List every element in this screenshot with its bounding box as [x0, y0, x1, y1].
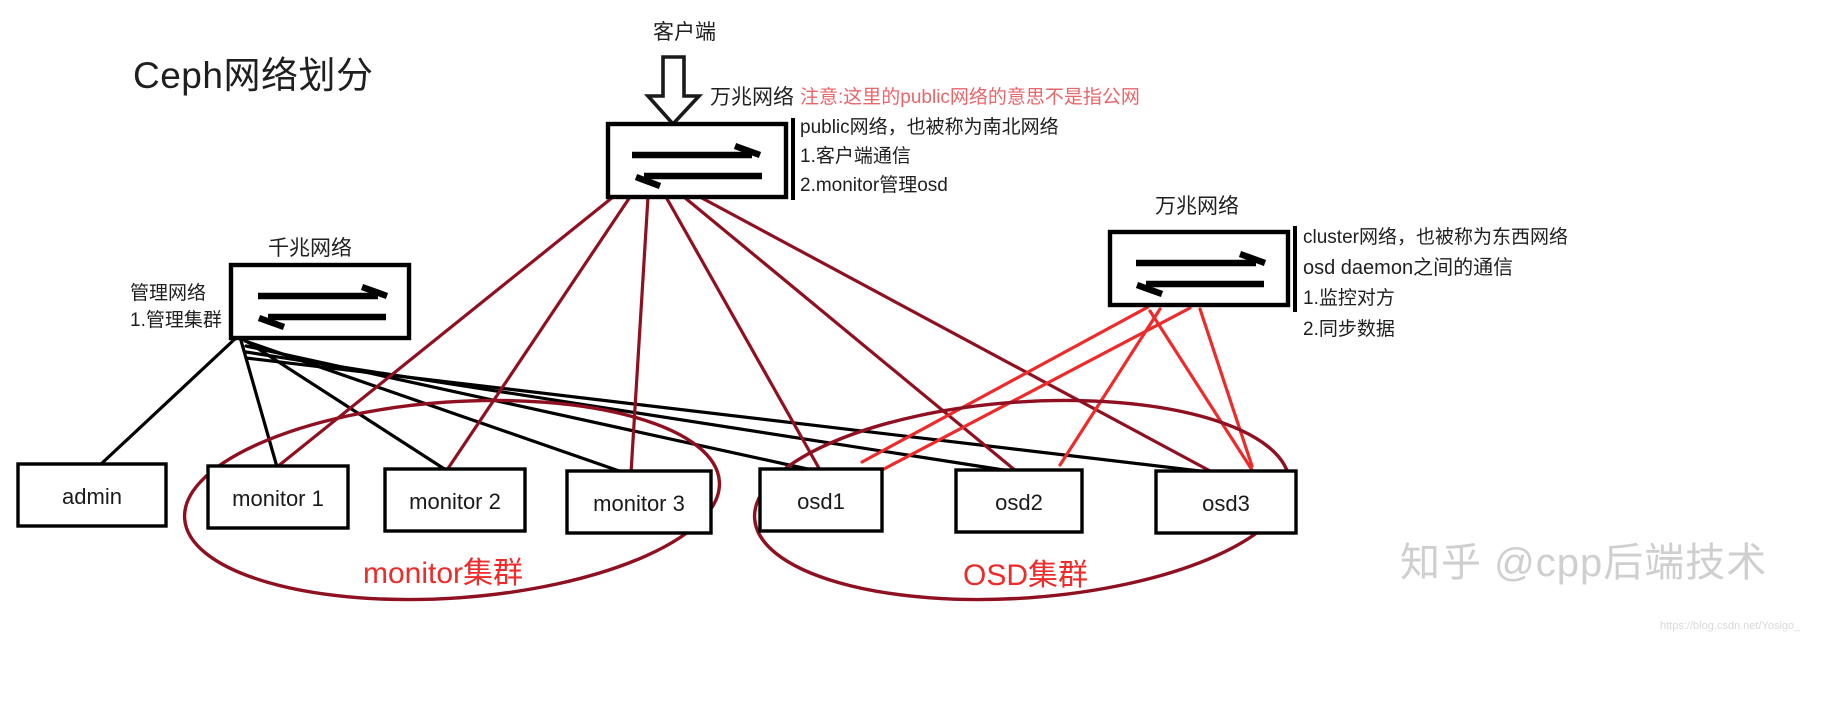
link-public-monitor2 [447, 197, 630, 470]
public-network-switch-box[interactable] [608, 124, 786, 197]
public-note-line-1: public网络，也被称为南北网络 [800, 118, 1059, 137]
link-cluster-osd1 [862, 307, 1148, 462]
mgmt-note-line-1: 管理网络 [130, 284, 206, 303]
cluster-note-line-4: 2.同步数据 [1303, 320, 1395, 339]
node-label-osd2: osd2 [956, 490, 1082, 516]
cluster-network-switch-box[interactable] [1110, 232, 1288, 305]
link-cluster-crossA [882, 308, 1190, 470]
public-switch-speed-label: 万兆网络 [710, 87, 794, 108]
management-network-switch-box[interactable] [231, 265, 409, 338]
node-label-monitor2: monitor 2 [385, 489, 525, 515]
cluster-note-line-1: cluster网络，也被称为东西网络 [1303, 228, 1568, 247]
client-label: 客户端 [653, 22, 716, 43]
osd-cluster-label: OSD集群 [963, 550, 1088, 594]
public-note-warning: 注意:这里的public网络的意思不是指公网 [800, 88, 1140, 107]
link-mgmt-admin [100, 337, 237, 465]
node-label-osd3: osd3 [1156, 491, 1296, 517]
node-label-admin: admin [18, 484, 166, 510]
diagram-svg [0, 0, 1834, 722]
diagram-canvas: Ceph网络划分 客户端 万兆网络 千兆网络 万兆网络 注意:这里的public… [0, 0, 1834, 722]
cluster-switch-speed-label: 万兆网络 [1155, 196, 1239, 217]
link-cluster-osd3 [1200, 309, 1252, 466]
page-title: Ceph网络划分 [133, 57, 373, 94]
monitor-cluster-label: monitor集群 [363, 548, 523, 592]
watermark-text: 知乎 @cpp后端技术 [1400, 530, 1767, 588]
public-note-line-3: 2.monitor管理osd [800, 176, 948, 195]
mgmt-note-line-2: 1.管理集群 [130, 311, 222, 330]
mgmt-switch-speed-label: 千兆网络 [268, 238, 352, 259]
node-label-monitor1: monitor 1 [208, 486, 348, 512]
cluster-note-line-3: 1.监控对方 [1303, 289, 1395, 308]
public-note-line-2: 1.客户端通信 [800, 147, 911, 166]
node-label-monitor3: monitor 3 [567, 491, 711, 517]
watermark-url: https://blog.csdn.net/Yosigo_ [1660, 620, 1800, 632]
management-network-links [100, 337, 1208, 473]
public-network-links [277, 197, 1212, 473]
cluster-note-line-2: osd daemon之间的通信 [1303, 258, 1513, 278]
node-label-osd1: osd1 [760, 489, 882, 515]
client-down-arrow-icon [648, 57, 699, 124]
